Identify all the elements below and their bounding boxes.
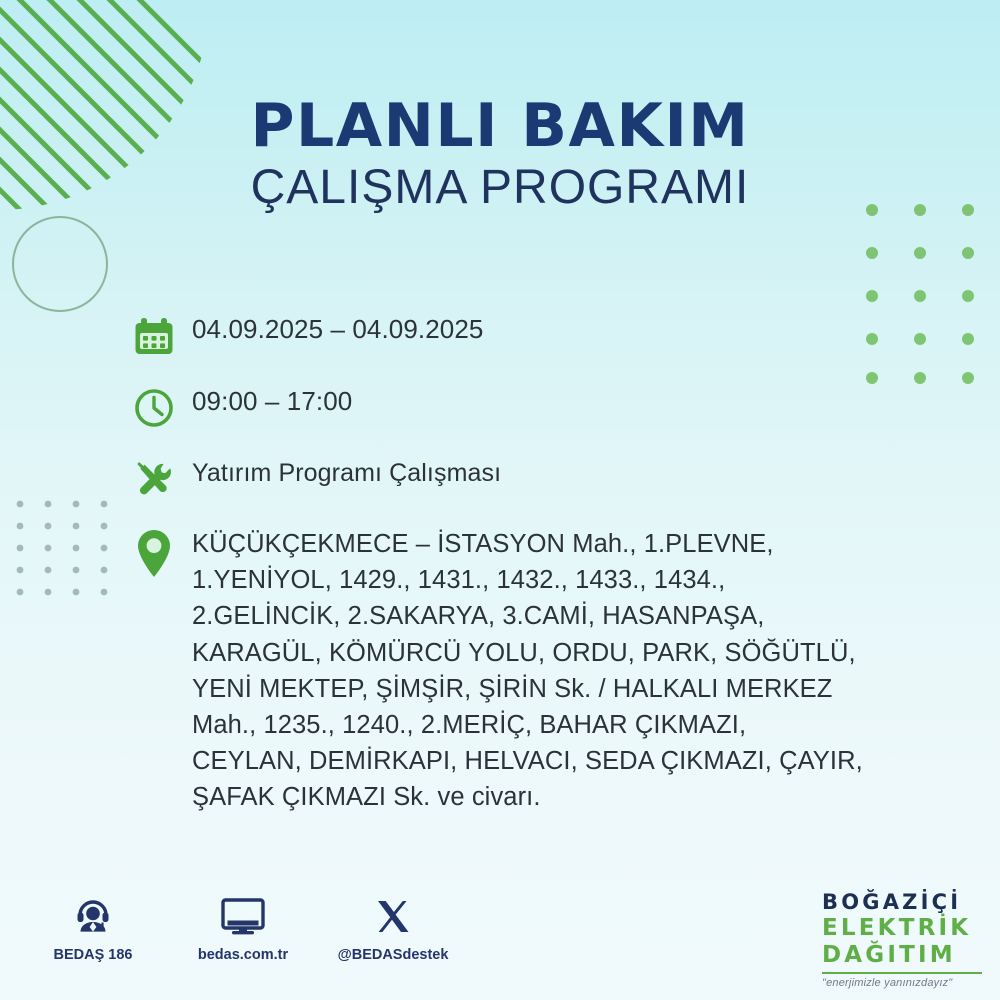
address-line: CEYLAN, DEMİRKAPI, HELVACI, SEDA ÇIKMAZI… <box>192 743 863 779</box>
address-line: 1.YENİYOL, 1429., 1431., 1432., 1433., 1… <box>192 562 863 598</box>
footer-contact-links: BEDAŞ 186 bedas.com.tr <box>38 894 448 963</box>
info-row-date: 04.09.2025 – 04.09.2025 <box>132 312 962 358</box>
logo-line-bogazici: BOĞAZİÇİ <box>822 892 982 913</box>
footer-item-call-center[interactable]: BEDAŞ 186 <box>38 894 148 963</box>
poster-footer: BEDAŞ 186 bedas.com.tr <box>0 890 1000 1000</box>
footer-item-social[interactable]: @BEDASdestek <box>338 894 448 963</box>
location-pin-icon <box>132 526 192 580</box>
footer-label-social: @BEDASdestek <box>338 947 449 963</box>
location-address-value: KÜÇÜKÇEKMECE – İSTASYON Mah., 1.PLEVNE,1… <box>192 526 863 816</box>
logo-line-elektrik: ELEKTRİK <box>822 917 982 940</box>
circle-outline-decoration <box>12 216 108 312</box>
address-line: Mah., 1235., 1240., 2.MERİÇ, BAHAR ÇIKMA… <box>192 707 863 743</box>
time-range-value: 09:00 – 17:00 <box>192 384 352 419</box>
address-line: 2.GELİNCİK, 2.SAKARYA, 3.CAMİ, HASANPAŞA… <box>192 598 863 634</box>
footer-item-website[interactable]: bedas.com.tr <box>188 894 298 963</box>
monitor-icon <box>220 894 266 940</box>
address-line: KÜÇÜKÇEKMECE – İSTASYON Mah., 1.PLEVNE, <box>192 526 863 562</box>
page-subtitle: ÇALIŞMA PROGRAMI <box>0 163 1000 213</box>
planli-bakim-poster: PLANLI BAKIM ÇALIŞMA PROGRAMI <box>0 0 1000 1000</box>
tools-icon <box>132 456 192 502</box>
logo-divider <box>822 972 982 974</box>
address-line: ŞAFAK ÇIKMAZI Sk. ve civarı. <box>192 779 863 815</box>
x-twitter-icon <box>374 894 412 940</box>
footer-label-website: bedas.com.tr <box>198 947 288 963</box>
info-row-work-type: Yatırım Programı Çalışması <box>132 456 962 502</box>
info-row-time: 09:00 – 17:00 <box>132 384 962 430</box>
work-type-value: Yatırım Programı Çalışması <box>192 456 501 490</box>
page-title: PLANLI BAKIM <box>0 96 1000 157</box>
support-headset-icon <box>72 894 114 940</box>
info-row-location: KÜÇÜKÇEKMECE – İSTASYON Mah., 1.PLEVNE,1… <box>132 526 962 816</box>
footer-label-call-center: BEDAŞ 186 <box>54 947 133 963</box>
address-line: YENİ MEKTEP, ŞİMŞİR, ŞİRİN Sk. / HALKALI… <box>192 671 863 707</box>
bedas-logo: BOĞAZİÇİ ELEKTRİK DAĞITIM "enerjimizle y… <box>822 892 982 989</box>
address-line: KARAGÜL, KÖMÜRCÜ YOLU, ORDU, PARK, SÖĞÜT… <box>192 635 863 671</box>
logo-tagline: "enerjimizle yanınızdayız" <box>822 978 982 989</box>
poster-heading: PLANLI BAKIM ÇALIŞMA PROGRAMI <box>0 96 1000 214</box>
calendar-icon <box>132 312 192 358</box>
outage-info-list: 04.09.2025 – 04.09.2025 09:00 – 17:00 <box>132 312 962 832</box>
dot-grid-left-decoration <box>8 492 113 602</box>
logo-line-dagitim: DAĞITIM <box>822 944 982 967</box>
clock-icon <box>132 384 192 430</box>
date-range-value: 04.09.2025 – 04.09.2025 <box>192 312 483 347</box>
